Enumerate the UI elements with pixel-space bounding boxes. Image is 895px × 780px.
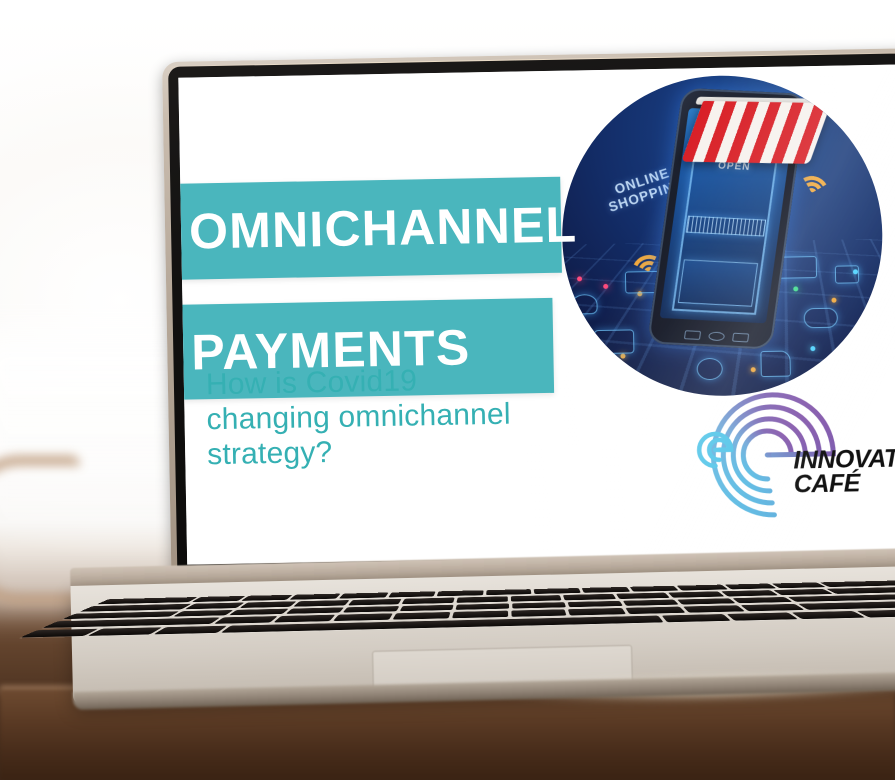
logo-wordmark: INNOVAT CAFÉ [793,447,895,497]
network-dot [793,286,798,291]
shopping-bag-icon [760,351,790,378]
presentation-slide: ONLINE SHOPPING [178,64,895,564]
laptop-screen[interactable]: ONLINE SHOPPING [178,64,895,564]
title-banner-primary: OMNICHANNEL [178,177,562,284]
network-dot [620,354,625,359]
title-line-1: OMNICHANNEL [189,195,578,260]
basket-icon [804,308,838,329]
wifi-icon-right [790,162,837,205]
network-dot [810,346,815,351]
laptop-lid: ONLINE SHOPPING [162,48,895,587]
network-dot [577,276,582,281]
keyboard[interactable] [20,580,895,637]
store-awning [681,101,831,164]
laptop-base [70,548,895,718]
store-counter [678,259,758,306]
network-dot [751,367,756,372]
card-icon [835,265,859,283]
screenshot-stage: ONLINE SHOPPING [0,0,895,780]
delivery-truck-icon [594,329,634,354]
slide-subtitle: How is Covid19 changing omnichannel stra… [206,361,548,472]
phone-recents-button [732,333,749,343]
network-dot [603,284,608,289]
laptop-device: ONLINE SHOPPING [0,0,895,780]
online-shopping-illustration: ONLINE SHOPPING [559,73,885,399]
phone-back-button [684,330,701,340]
innovation-cafe-logo: INNOVAT CAFÉ [674,384,895,529]
tag-icon [571,294,597,314]
network-dot [831,298,836,303]
logo-text-line-2: CAFÉ [794,471,895,497]
